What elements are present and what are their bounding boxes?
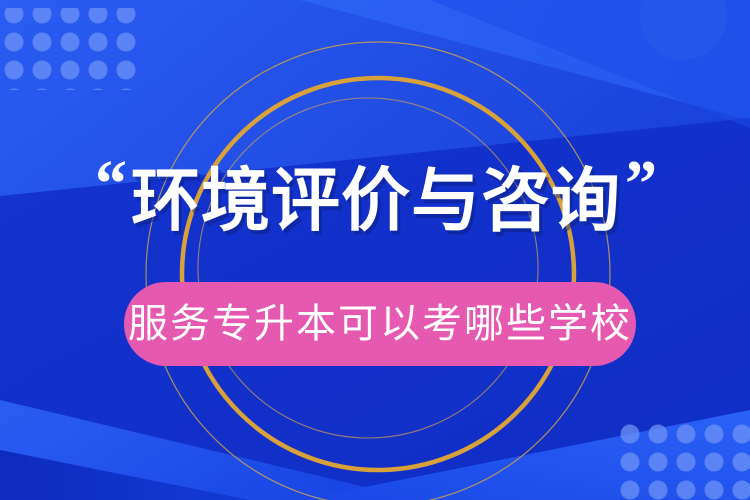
subtitle-text: 服务专升本可以考哪些学校 [128,304,632,344]
promo-banner: “ 环境评价与咨询 ” 服务专升本可以考哪些学校 [0,0,750,500]
page-title: 环境评价与咨询 [131,166,621,235]
quote-open-icon: “ [95,150,125,217]
title-row: “ 环境评价与咨询 ” [0,148,750,252]
subtitle-pill: 服务专升本可以考哪些学校 [124,282,636,366]
text-layer: “ 环境评价与咨询 ” 服务专升本可以考哪些学校 [0,0,750,500]
quote-close-icon: ” [625,150,655,217]
